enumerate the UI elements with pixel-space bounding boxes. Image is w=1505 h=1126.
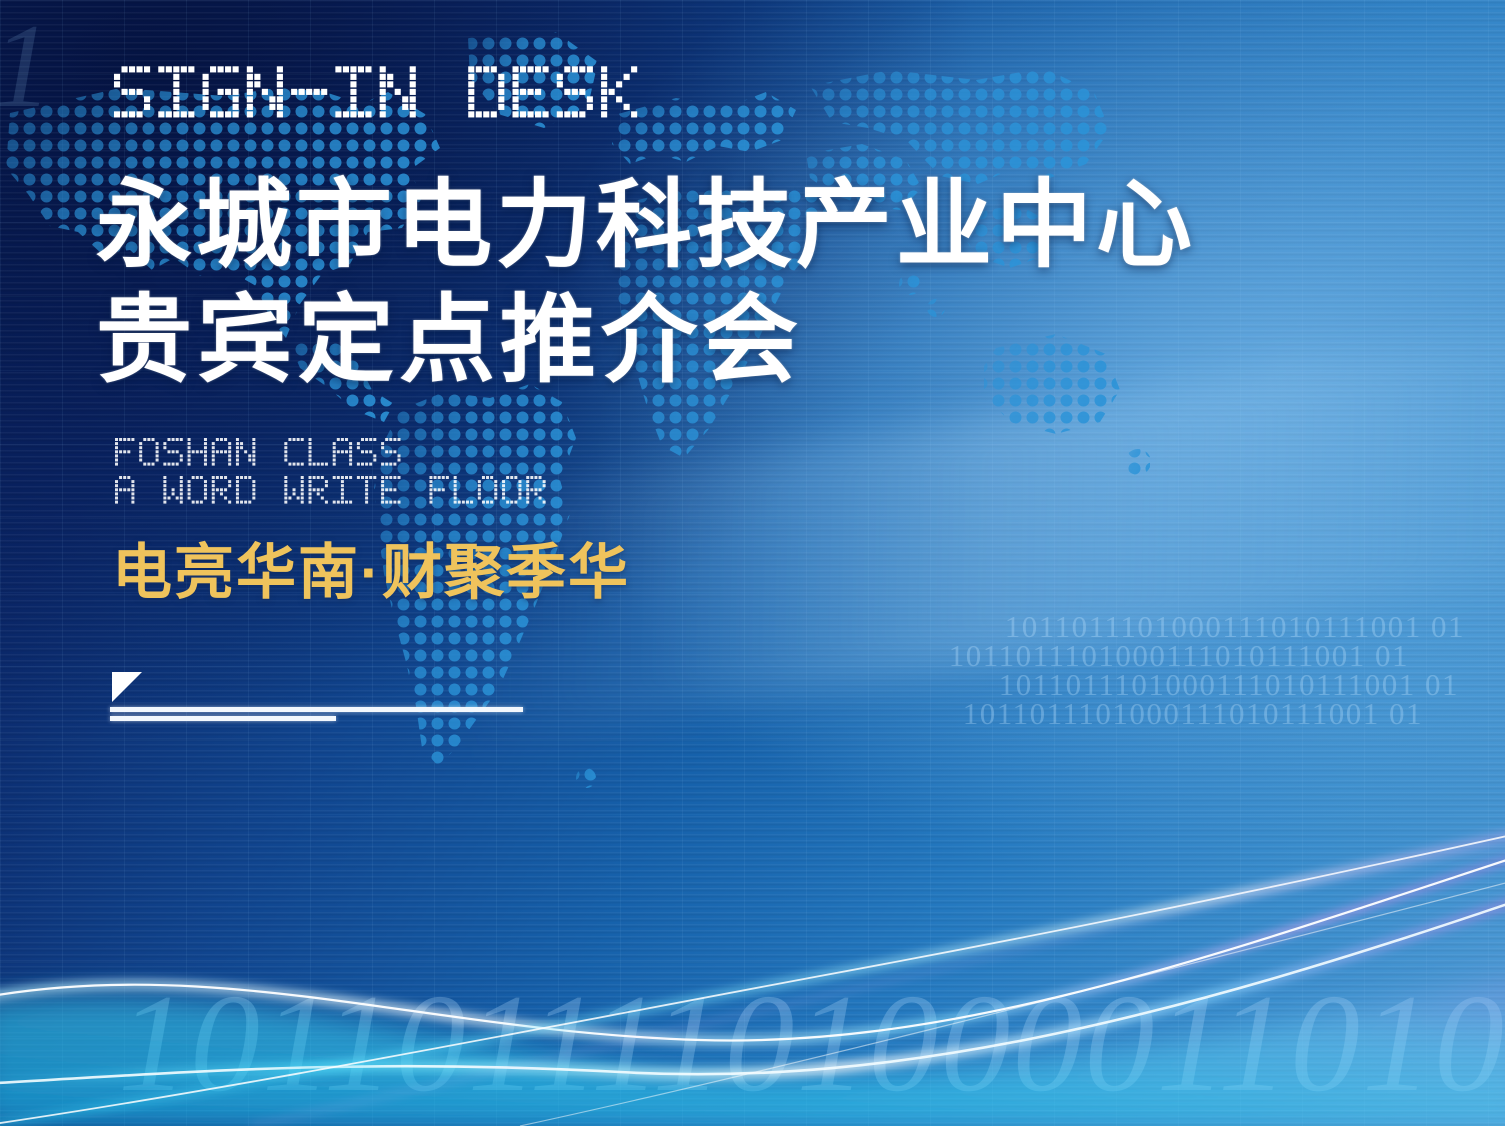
dotmatrix-headline [112,42,902,138]
rule-line-bottom [110,716,336,721]
rule-line-top [110,707,523,712]
decorative-rule [110,672,540,718]
poster-canvas: 1 1011011101000111010111001 01 101101110… [0,0,1505,1126]
subtitle-english [114,437,584,509]
title-line-1: 永城市电力科技产业中心 [96,168,1196,283]
title-line-2: 贵宾定点推介会 [96,283,1196,398]
poster-content: 永城市电力科技产业中心 贵宾定点推介会 电亮华南·财聚季华 [0,0,1505,1126]
triangle-flag-icon [112,672,142,702]
tagline: 电亮华南·财聚季华 [112,538,630,608]
page-title: 永城市电力科技产业中心 贵宾定点推介会 [96,168,1196,398]
